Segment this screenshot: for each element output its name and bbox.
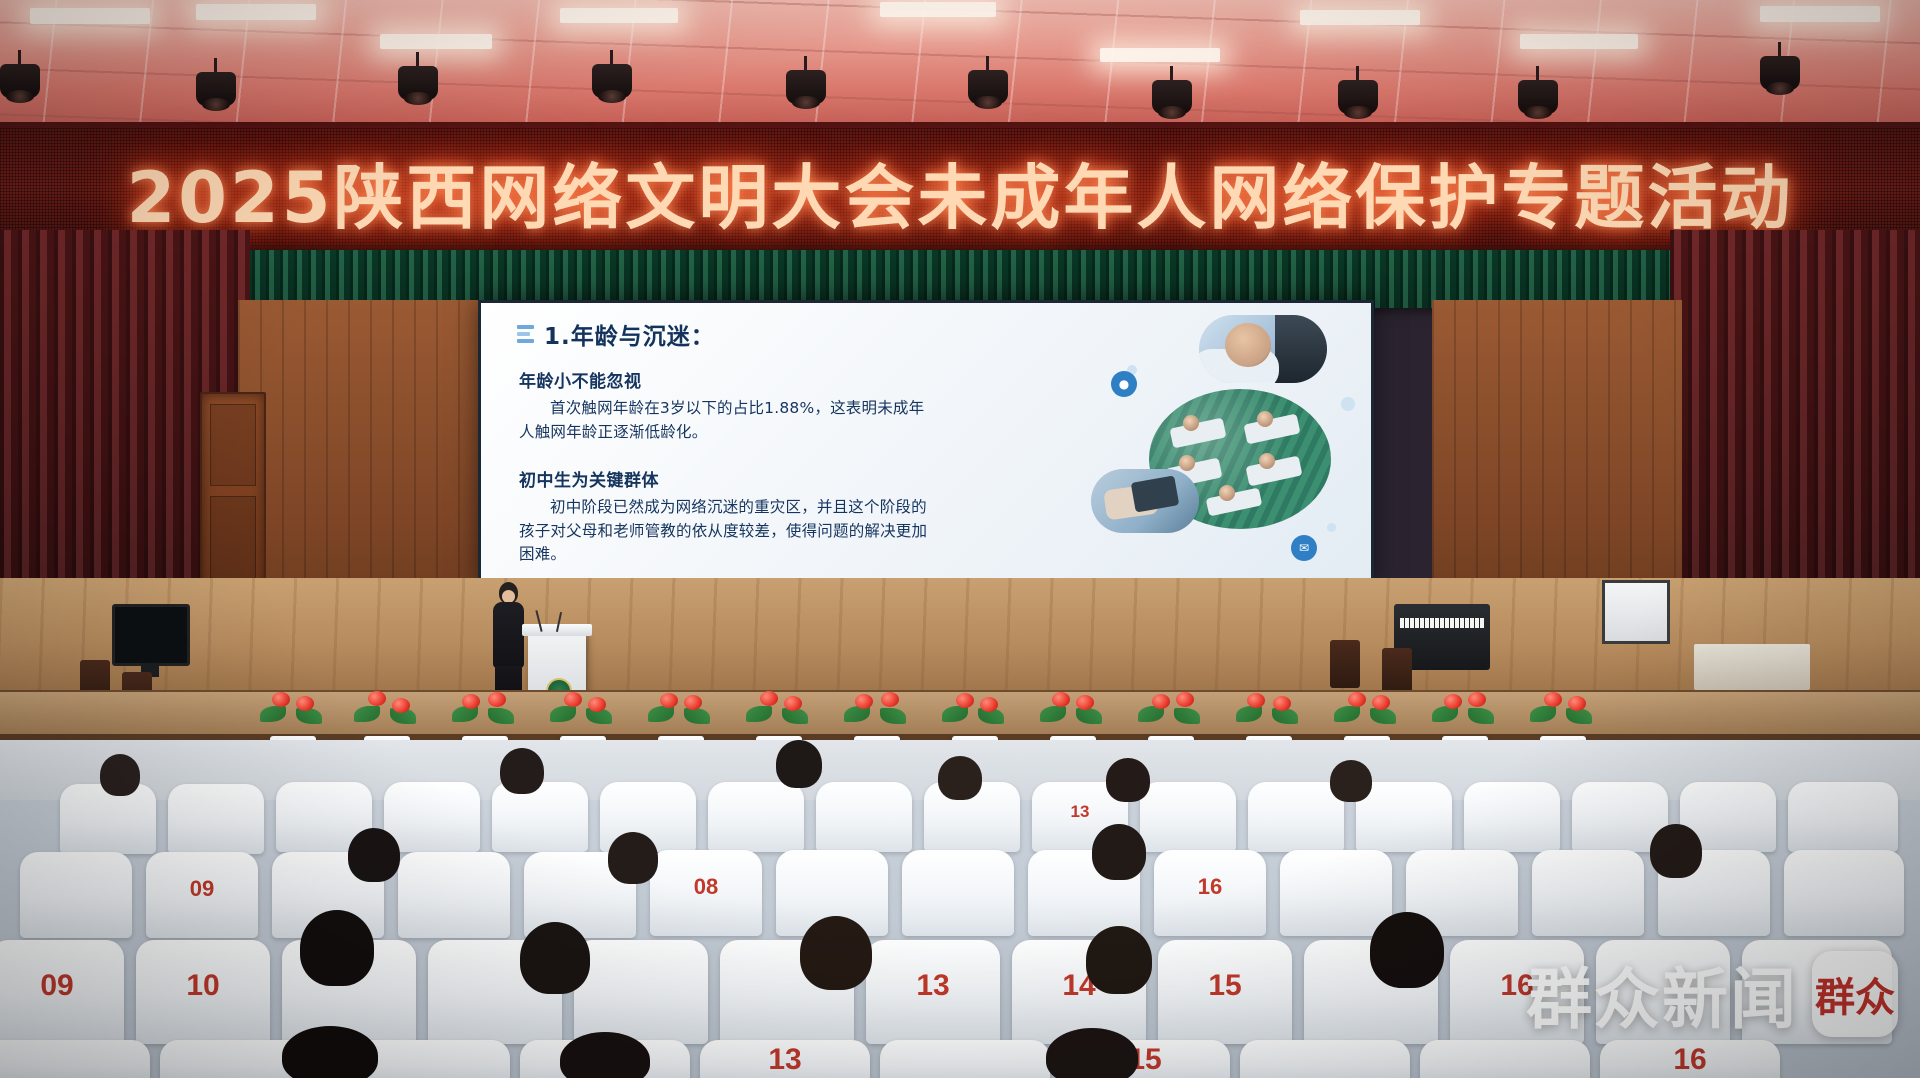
potted-plant [1330,688,1404,742]
seat-number: 16 [1154,874,1266,900]
audience-head [1106,758,1150,802]
slide-title: 1.年龄与沉迷： [544,317,715,351]
potted-plant [742,688,816,742]
watermark: 群众新闻 群众 [1526,946,1898,1042]
seat-number: 16 [1600,1043,1780,1077]
audience-head [608,832,658,884]
stage-spotlight [398,66,438,112]
side-monitor [112,604,190,666]
stage-spotlight [592,64,632,110]
seat-number: 09 [146,876,258,902]
seat-number: 13 [866,969,1000,1003]
watermark-logo-badge: 群众 [1812,951,1898,1037]
seat[interactable] [1784,850,1904,936]
potted-plant [350,688,424,742]
audience-head [282,1026,378,1078]
bullet-marker-icon [517,325,534,343]
watermark-badge-text: 群众 [1815,965,1895,1023]
seat[interactable] [0,1040,150,1078]
child-lying-photo [1199,315,1327,383]
ceiling-panel-light [380,34,492,49]
ceiling-panel-light [880,2,996,17]
stage-spotlight [196,72,236,118]
seat[interactable] [1240,1040,1410,1078]
potted-plant [1526,688,1600,742]
seat[interactable] [1280,850,1392,936]
seat[interactable] [902,850,1014,936]
seat[interactable] [708,782,804,852]
seat[interactable]: 10 [136,940,270,1044]
ceiling-panel-light [560,8,678,23]
potted-plant [938,688,1012,742]
seat[interactable]: 09 [146,852,258,938]
ceiling-panel-light [30,8,150,24]
seat[interactable] [1356,782,1452,852]
projection-screen: 1.年龄与沉迷： 年龄小不能忽视 首次触网年龄在3岁以下的占比1.88%，这表明… [478,300,1374,586]
seat[interactable] [816,782,912,852]
audience-head [500,748,544,794]
slide-section-heading-1: 年龄小不能忽视 [519,367,939,392]
seat-number: 08 [650,874,762,900]
stage-spotlight [1518,80,1558,126]
seat[interactable] [168,784,264,854]
event-banner-title: 2025陕西网络文明大会未成年人网络保护专题活动 [0,142,1920,243]
hand-holding-phone-photo [1091,469,1199,533]
seat[interactable] [398,852,510,938]
audience-head [1086,926,1152,994]
audience-head [520,922,590,994]
audience-head [1650,824,1702,878]
stage-chair[interactable] [1330,640,1360,688]
slide-section-paragraph-1: 首次触网年龄在3岁以下的占比1.88%，这表明未成年人触网年龄正逐渐低龄化。 [519,397,939,444]
audience-head [1046,1028,1138,1078]
seat[interactable]: 13 [866,940,1000,1044]
seat[interactable] [492,782,588,852]
message-icon: ✉ [1291,535,1317,561]
decor-dot [1327,523,1336,532]
whiteboard [1602,580,1670,644]
stage-side-table [1694,644,1810,690]
seat[interactable]: 08 [650,850,762,936]
slide-section-heading-2: 初中生为关键群体 [519,466,939,491]
stage-side-door[interactable] [200,392,266,601]
stage-spotlight [1338,80,1378,126]
seat[interactable] [384,782,480,852]
potted-plant [644,688,718,742]
audience-head [300,910,374,986]
slide-body: 年龄小不能忽视 首次触网年龄在3岁以下的占比1.88%，这表明未成年人触网年龄正… [519,367,939,586]
audience-head [776,740,822,788]
seat-number: 13 [700,1043,870,1077]
watermark-text: 群众新闻 [1526,946,1798,1042]
audience-head [1370,912,1444,988]
seat[interactable]: 13 [700,1040,870,1078]
seat[interactable] [1420,1040,1590,1078]
potted-plant [840,688,914,742]
seat[interactable] [60,784,156,854]
potted-plant [1232,688,1306,742]
seat[interactable]: 09 [0,940,124,1044]
ceiling-panel-light [196,4,316,20]
audience-head [800,916,872,990]
conference-hall-photo: 2025陕西网络文明大会未成年人网络保护专题活动 1.年龄与沉迷： 年龄小不能忽… [0,0,1920,1078]
seat[interactable]: 15 [1158,940,1292,1044]
slide-illustration: ● ✉ [1091,309,1363,577]
stage-spotlight [1152,80,1192,126]
stage-spotlight [968,70,1008,116]
presentation-slide: 1.年龄与沉迷： 年龄小不能忽视 首次触网年龄在3岁以下的占比1.88%，这表明… [481,303,1371,583]
seat[interactable] [1464,782,1560,852]
seat-number: 10 [136,969,270,1003]
audience-head [1092,824,1146,880]
seat[interactable] [1140,782,1236,852]
ceiling-panel-light [1760,6,1880,22]
seat[interactable] [1532,850,1644,936]
audience-head [1330,760,1372,802]
slide-header: 1.年龄与沉迷： [517,317,715,351]
seat[interactable] [20,852,132,938]
potted-plant [1428,688,1502,742]
audience-head [348,828,400,882]
seat-number: 13 [1032,802,1128,822]
ceiling-panel-light [1100,48,1220,62]
potted-plant [256,688,330,742]
potted-plant [1036,688,1110,742]
decor-dot [1341,397,1355,411]
seat[interactable]: 16 [1600,1040,1780,1078]
seat[interactable]: 16 [1154,850,1266,936]
seat[interactable] [1248,782,1344,852]
slide-section-paragraph-2: 初中阶段已然成为网络沉迷的重灾区，并且这个阶段的孩子对父母和老师管教的依从度较差… [519,496,939,567]
potted-plant [448,688,522,742]
seat-number: 15 [1158,969,1292,1003]
user-avatar-icon: ● [1111,371,1137,397]
seat-number: 09 [0,969,124,1003]
seat[interactable] [574,940,708,1044]
potted-plant [546,688,620,742]
audience-head [100,754,140,796]
seat[interactable] [1788,782,1898,852]
ceiling-panel-light [1300,10,1420,25]
seat[interactable] [880,1040,1050,1078]
ceiling-panel-light [1520,34,1638,49]
potted-plant [1134,688,1208,742]
stage-spotlight [1760,56,1800,102]
stage-spotlight [786,70,826,116]
stage-spotlight [0,64,40,110]
audience-head [938,756,982,800]
